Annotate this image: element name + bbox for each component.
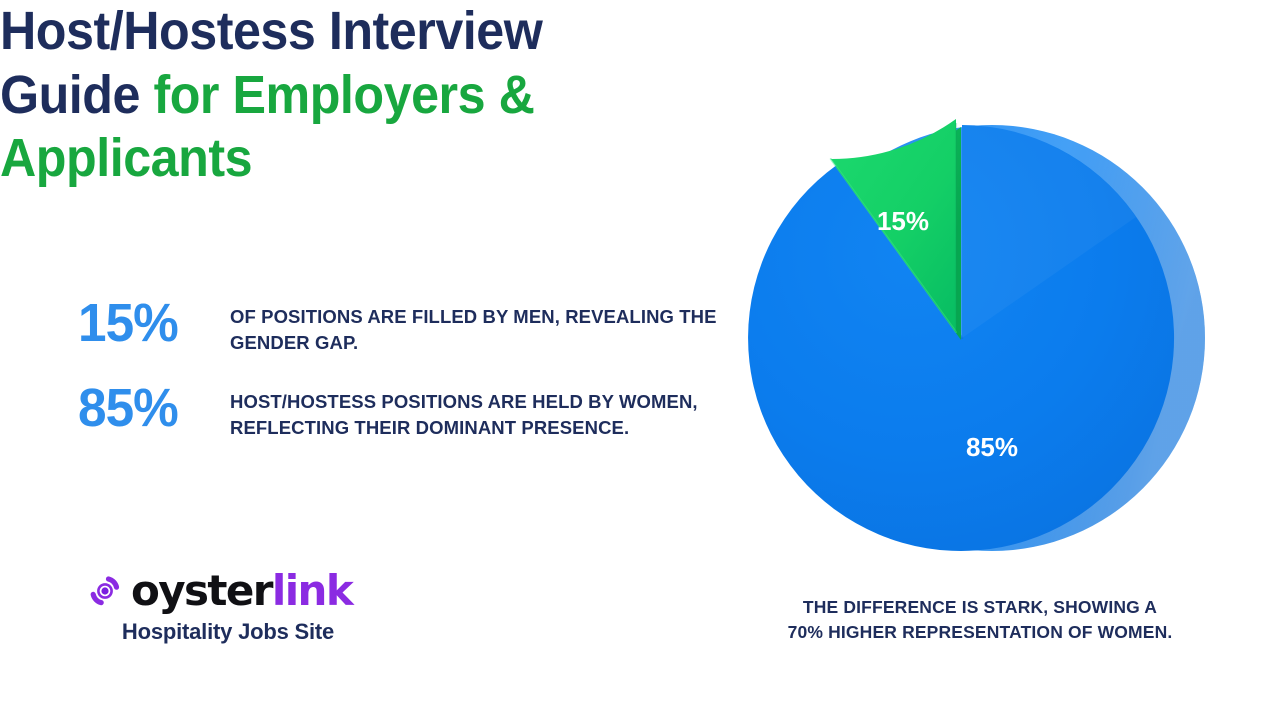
stat-percent-value: 85% <box>78 383 222 434</box>
pie-chart-svg: 15% 85% <box>720 60 1240 580</box>
headline-segment-dark: Host/Hostess Interview <box>0 1 542 61</box>
stat-percent-value: 15% <box>78 298 222 349</box>
headline-line-1: Host/Hostess Interview <box>0 0 1190 64</box>
infographic-canvas: Host/Hostess Interview Guide for Employe… <box>0 0 1280 720</box>
headline-segment-green: for Employers & <box>153 65 534 125</box>
logo-tagline: Hospitality Jobs Site <box>88 619 368 645</box>
headline-segment-green-2: Applicants <box>0 128 252 188</box>
headline-segment-dark-2: Guide <box>0 65 153 125</box>
stat-item-women: 85% HOST/HOSTESS POSITIONS ARE HELD BY W… <box>78 383 758 442</box>
logo-word-accent: link <box>272 566 352 615</box>
chart-caption-line-2: 70% HIGHER REPRESENTATION OF WOMEN. <box>720 620 1240 645</box>
stat-description: HOST/HOSTESS POSITIONS ARE HELD BY WOMEN… <box>230 383 758 442</box>
stat-item-men: 15% OF POSITIONS ARE FILLED BY MEN, REVE… <box>78 298 758 357</box>
logo-wordmark-text: oysterlink <box>131 570 352 612</box>
logo-word-main: oyster <box>131 566 272 615</box>
oyster-pearl-icon <box>88 574 122 608</box>
pie-chart: 15% 85% THE DIFFERENCE IS STARK, SHOWING… <box>720 60 1240 680</box>
chart-caption: THE DIFFERENCE IS STARK, SHOWING A 70% H… <box>720 595 1240 646</box>
pie-label-women: 85% <box>966 432 1018 462</box>
statistics-list: 15% OF POSITIONS ARE FILLED BY MEN, REVE… <box>78 298 758 467</box>
pie-label-men: 15% <box>877 206 929 236</box>
logo-wordmark-row: oysterlink <box>88 570 388 612</box>
chart-caption-line-1: THE DIFFERENCE IS STARK, SHOWING A <box>720 595 1240 620</box>
stat-description: OF POSITIONS ARE FILLED BY MEN, REVEALIN… <box>230 298 758 357</box>
brand-logo[interactable]: oysterlink Hospitality Jobs Site <box>88 570 388 645</box>
